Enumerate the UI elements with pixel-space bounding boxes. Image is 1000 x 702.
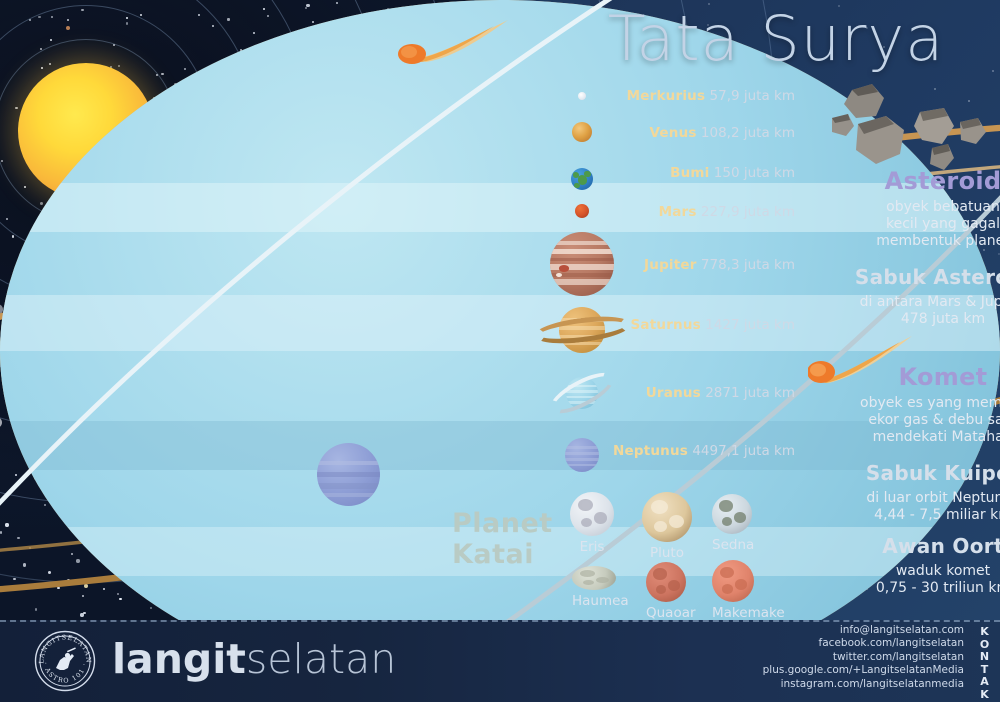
scale-planet-name: Neptunus [613,443,688,459]
brand-light: selatan [246,635,396,683]
dwarf-planet-body [646,562,686,602]
dwarf-planet-label: Eris [570,539,614,555]
scale-planet-name: Uranus [646,385,701,401]
scale-planet-distance: 108,2 juta km [697,125,795,141]
kuiper-belt-heading: Sabuk Kuiper [839,460,1000,487]
langitselatan-logo: LANGITSELATAN · ASTRO 101 · [34,630,96,692]
oort-cloud-desc-2: 0,75 - 30 triliun km [839,580,1000,597]
scale-label-venus: Venus 108,2 juta km [0,126,795,141]
scale-planet-name: Mars [659,204,697,220]
kontak-letter: K [976,689,994,702]
brand-wordmark: langitselatan [112,634,396,684]
dwarf-planet-body [642,492,692,542]
scale-planet-distance: 2871 juta km [701,385,795,401]
dwarf-title-line1: Planet [452,508,562,539]
scale-label-mars: Mars 227,9 juta km [0,205,795,220]
oort-cloud-desc-1: waduk komet [839,563,1000,580]
scale-planet-name: Merkurius [627,88,706,104]
asteroid-heading: Asteroid [839,168,1000,195]
scale-planet-name: Bumi [670,165,709,181]
comet-illustration-left [398,18,510,64]
dwarf-planet-makemake: Makemake [712,560,754,602]
footer-divider [0,620,1000,622]
comet-desc-3: mendekati Matahari [839,429,1000,446]
dwarf-planet-pluto: Pluto [642,492,692,542]
dwarf-planet-sedna: Sedna [712,494,752,534]
kontak-letter: N [976,651,994,664]
asteroid-belt-heading: Sabuk Asteroid [839,264,1000,291]
comet-heading: Komet [839,364,1000,391]
contact-line[interactable]: info@langitselatan.com [714,624,964,637]
dwarf-planets-title: Planet Katai [452,508,562,570]
scale-label-saturnus: Saturnus 1427 juta km [0,318,795,333]
contact-line[interactable]: plus.google.com/+LangitselatanMedia [714,664,964,677]
dwarf-planet-label: Sedna [712,537,752,553]
comet-block: Komet obyek es yang memiliki ekor gas & … [839,364,1000,446]
page-title: Tata Surya [556,2,996,78]
asteroid-belt-desc-1: di antara Mars & Jupiter [839,294,1000,311]
kuiper-belt-block: Sabuk Kuiper di luar orbit Neptunus 4,44… [839,460,1000,524]
oort-cloud-heading: Awan Oort [839,533,1000,560]
scale-planet-distance: 227,9 juta km [697,204,795,220]
contact-line[interactable]: twitter.com/langitselatan [714,651,964,664]
oort-cloud-block: Awan Oort waduk komet 0,75 - 30 triliun … [839,533,1000,597]
kuiper-belt-desc-1: di luar orbit Neptunus [839,490,1000,507]
asteroid-desc-2: kecil yang gagal [839,216,1000,233]
dwarf-planet-label: Quaoar [646,605,686,621]
asteroid-block: Asteroid obyek bebatuan kecil yang gagal… [839,168,1000,250]
asteroid-desc-1: obyek bebatuan [839,199,1000,216]
scale-planet-distance: 1427 juta km [701,317,795,333]
comet-desc-2: ekor gas & debu saat [839,412,1000,429]
scale-planet-distance: 778,3 juta km [697,257,795,273]
scale-planet-distance: 57,9 juta km [705,88,795,104]
dwarf-planet-quaoar: Quaoar [646,562,686,602]
scale-label-uranus: Uranus 2871 juta km [0,386,795,401]
contact-line[interactable]: instagram.com/langitselatanmedia [714,678,964,691]
dwarf-planet-body [570,492,614,536]
scale-planet-distance: 4497,1 juta km [688,443,795,459]
brand-bold: langit [112,635,246,683]
footer-contacts: info@langitselatan.comfacebook.com/langi… [714,624,964,691]
asteroid-belt-block: Sabuk Asteroid di antara Mars & Jupiter … [839,264,1000,328]
asteroid-belt-desc-2: 478 juta km [839,311,1000,328]
infographic-poster: Tata Surya Merkurius 57,9 juta kmVenus 1… [0,0,1000,702]
dwarf-planet-label: Pluto [642,545,692,561]
asteroid-desc-3: membentuk planet [839,233,1000,250]
scale-label-bumi: Bumi 150 juta km [0,166,795,181]
contact-line[interactable]: facebook.com/langitselatan [714,637,964,650]
kontak-label: KONTAK [976,626,994,702]
kuiper-belt-desc-2: 4,44 - 7,5 miliar km [839,507,1000,524]
kontak-letter: K [976,626,994,639]
comet-desc-1: obyek es yang memiliki [839,395,1000,412]
dwarf-planet-haumea: Haumea [572,566,616,590]
scale-planet-name: Jupiter [644,257,697,273]
dwarf-planet-body [712,560,754,602]
dwarf-planet-label: Haumea [572,593,616,609]
dwarf-title-line2: Katai [452,539,562,570]
scale-label-merkurius: Merkurius 57,9 juta km [0,89,795,104]
dwarf-planet-body [712,494,752,534]
dwarf-planet-label: Makemake [712,605,754,621]
scale-planet-distance: 150 juta km [710,165,795,181]
scale-label-neptunus: Neptunus 4497,1 juta km [0,444,795,459]
dwarf-planet-body [572,566,616,590]
scale-label-jupiter: Jupiter 778,3 juta km [0,258,795,273]
dwarf-planet-eris: Eris [570,492,614,536]
scale-planet-name: Saturnus [631,317,701,333]
scale-planet-name: Venus [650,125,697,141]
